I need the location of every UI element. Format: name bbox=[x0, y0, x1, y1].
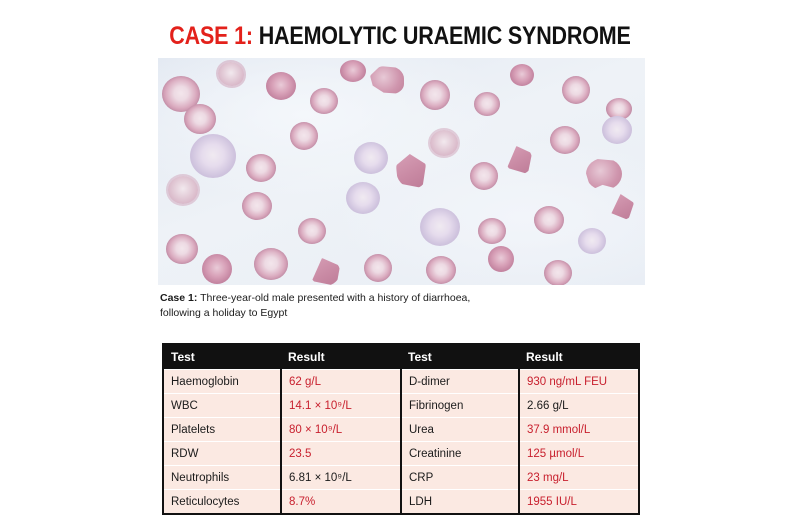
lab-results-table: Test Result Test Result Haemoglobin 62 g… bbox=[162, 343, 640, 515]
table-row: Haemoglobin 62 g/L D-dimer 930 ng/mL FEU bbox=[163, 370, 639, 394]
test-name-cell: CRP bbox=[401, 466, 519, 490]
test-result-cell: 1955 IU/L bbox=[519, 490, 639, 515]
red-blood-cell bbox=[190, 134, 236, 178]
test-name-cell: Platelets bbox=[163, 418, 281, 442]
red-blood-cell bbox=[354, 142, 388, 174]
test-result-cell: 14.1 × 10⁹/L bbox=[281, 394, 401, 418]
caption-prefix: Case 1: bbox=[160, 292, 197, 304]
column-header-test-right: Test bbox=[401, 344, 519, 370]
blood-film-image bbox=[158, 58, 645, 285]
case-diagnosis-label: HAEMOLYTIC URAEMIC SYNDROME bbox=[259, 22, 631, 50]
test-name-cell: Creatinine bbox=[401, 442, 519, 466]
test-name-cell: Reticulocytes bbox=[163, 490, 281, 515]
echinocyte-cell bbox=[168, 176, 198, 204]
red-blood-cell bbox=[544, 260, 572, 285]
table-header-row: Test Result Test Result bbox=[163, 344, 639, 370]
red-blood-cell bbox=[266, 72, 296, 100]
figure-caption: Case 1: Three-year-old male presented wi… bbox=[160, 291, 500, 320]
red-blood-cell bbox=[166, 234, 198, 264]
red-blood-cell bbox=[534, 206, 564, 234]
red-blood-cell bbox=[246, 154, 276, 182]
red-blood-cell bbox=[184, 104, 216, 134]
test-result-cell: 37.9 mmol/L bbox=[519, 418, 639, 442]
red-blood-cell bbox=[550, 126, 580, 154]
echinocyte-cell bbox=[430, 130, 458, 156]
red-blood-cell bbox=[364, 254, 392, 282]
red-blood-cell bbox=[426, 256, 456, 284]
red-blood-cell bbox=[488, 246, 514, 272]
table-row: WBC 14.1 × 10⁹/L Fibrinogen 2.66 g/L bbox=[163, 394, 639, 418]
test-result-cell: 8.7% bbox=[281, 490, 401, 515]
case-number-label: CASE 1: bbox=[169, 22, 253, 50]
test-name-cell: Fibrinogen bbox=[401, 394, 519, 418]
red-blood-cell bbox=[298, 218, 326, 244]
table-row: RDW 23.5 Creatinine 125 µmol/L bbox=[163, 442, 639, 466]
page-title: CASE 1: HAEMOLYTIC URAEMIC SYNDROME bbox=[56, 22, 744, 50]
echinocyte-cell bbox=[218, 62, 244, 86]
red-blood-cell bbox=[420, 80, 450, 110]
column-header-test-left: Test bbox=[163, 344, 281, 370]
table-row: Neutrophils 6.81 × 10⁹/L CRP 23 mg/L bbox=[163, 466, 639, 490]
test-result-cell: 6.81 × 10⁹/L bbox=[281, 466, 401, 490]
table-row: Platelets 80 × 10⁹/L Urea 37.9 mmol/L bbox=[163, 418, 639, 442]
red-blood-cell bbox=[474, 92, 500, 116]
test-result-cell: 80 × 10⁹/L bbox=[281, 418, 401, 442]
caption-text: Three-year-old male presented with a his… bbox=[160, 292, 470, 319]
test-name-cell: D-dimer bbox=[401, 370, 519, 394]
test-result-cell: 2.66 g/L bbox=[519, 394, 639, 418]
test-name-cell: WBC bbox=[163, 394, 281, 418]
test-result-cell: 62 g/L bbox=[281, 370, 401, 394]
test-result-cell: 23 mg/L bbox=[519, 466, 639, 490]
red-blood-cell bbox=[242, 192, 272, 220]
table-row: Reticulocytes 8.7% LDH 1955 IU/L bbox=[163, 490, 639, 515]
test-name-cell: Urea bbox=[401, 418, 519, 442]
red-blood-cell bbox=[578, 228, 606, 254]
red-blood-cell bbox=[202, 254, 232, 284]
table-body: Haemoglobin 62 g/L D-dimer 930 ng/mL FEU… bbox=[163, 370, 639, 515]
red-blood-cell bbox=[420, 208, 460, 246]
test-result-cell: 125 µmol/L bbox=[519, 442, 639, 466]
red-blood-cell bbox=[478, 218, 506, 244]
red-blood-cell bbox=[562, 76, 590, 104]
column-header-result-right: Result bbox=[519, 344, 639, 370]
red-blood-cell bbox=[290, 122, 318, 150]
red-blood-cell bbox=[340, 60, 366, 82]
test-name-cell: Neutrophils bbox=[163, 466, 281, 490]
red-blood-cell bbox=[602, 116, 632, 144]
test-result-cell: 23.5 bbox=[281, 442, 401, 466]
test-name-cell: LDH bbox=[401, 490, 519, 515]
test-name-cell: Haemoglobin bbox=[163, 370, 281, 394]
test-name-cell: RDW bbox=[163, 442, 281, 466]
helmet-cell bbox=[586, 158, 622, 190]
red-blood-cell bbox=[510, 64, 534, 86]
column-header-result-left: Result bbox=[281, 344, 401, 370]
red-blood-cell bbox=[310, 88, 338, 114]
red-blood-cell bbox=[346, 182, 380, 214]
test-result-cell: 930 ng/mL FEU bbox=[519, 370, 639, 394]
red-blood-cell bbox=[254, 248, 288, 280]
red-blood-cell bbox=[470, 162, 498, 190]
